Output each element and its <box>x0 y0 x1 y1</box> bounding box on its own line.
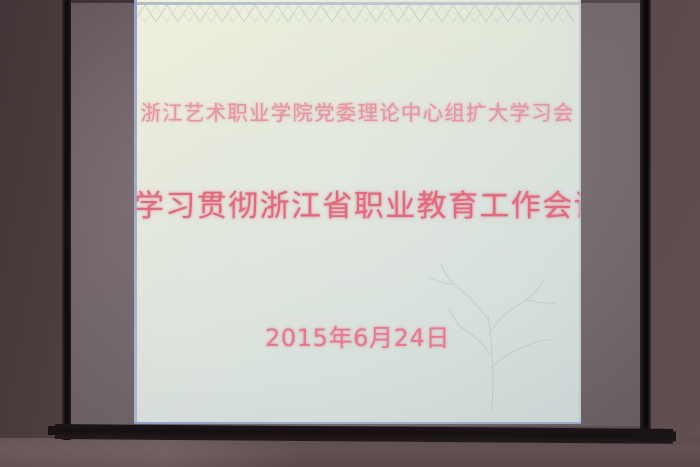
projector-screen-photo: 浙江艺术职业学院党委理论中心组扩大学习会 学习贯彻浙江省职业教育工作会议精神 2… <box>0 0 700 467</box>
slide-text-layer: 浙江艺术职业学院党委理论中心组扩大学习会 学习贯彻浙江省职业教育工作会议精神 2… <box>134 0 581 424</box>
wall-left-panel <box>0 0 63 440</box>
wall-seam-left <box>62 0 71 440</box>
slide-edge-right <box>579 0 581 424</box>
slide-main-title: 学习贯彻浙江省职业教育工作会议精神 <box>134 181 581 225</box>
screen-bar-right-tab <box>630 431 676 441</box>
slide-edge-bottom <box>134 422 581 424</box>
projected-slide: 浙江艺术职业学院党委理论中心组扩大学习会 学习贯彻浙江省职业教育工作会议精神 2… <box>134 0 581 424</box>
slide-edge-left <box>134 0 137 424</box>
slide-date: 2015年6月24日 <box>134 318 581 353</box>
wall-light-reflection <box>0 438 300 467</box>
wall-seam-right <box>640 0 651 440</box>
slide-subheading: 浙江艺术职业学院党委理论中心组扩大学习会 <box>134 96 581 126</box>
